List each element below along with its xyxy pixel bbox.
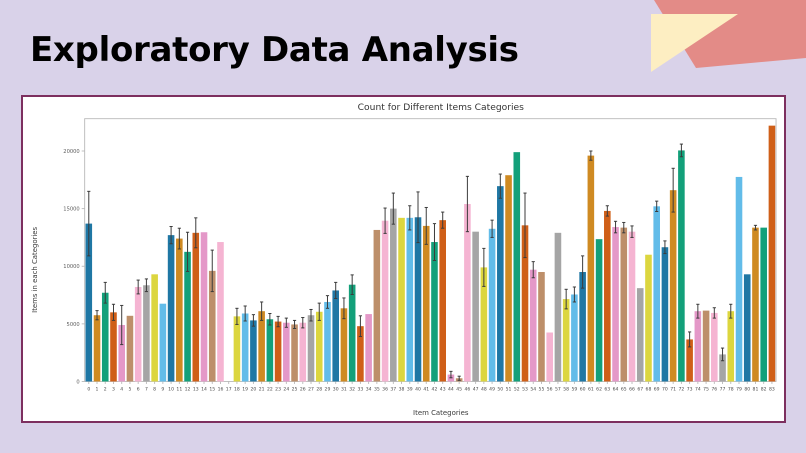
bar	[275, 322, 282, 382]
y-tick-label: 0	[76, 379, 79, 385]
bar	[670, 190, 677, 381]
x-tick-label: 9	[161, 386, 164, 392]
bar	[571, 294, 578, 381]
bar	[299, 323, 306, 382]
bar	[423, 226, 430, 382]
x-tick-label: 8	[153, 386, 156, 392]
x-tick-label: 61	[588, 386, 594, 392]
x-tick-label: 65	[621, 386, 627, 392]
x-tick-label: 71	[670, 386, 676, 392]
x-tick-label: 64	[613, 386, 619, 392]
x-tick-label: 59	[571, 386, 577, 392]
x-tick-label: 28	[316, 386, 322, 392]
bar	[341, 308, 348, 381]
x-tick-label: 54	[530, 386, 536, 392]
x-tick-label: 18	[234, 386, 240, 392]
x-tick-label: 6	[137, 386, 140, 392]
x-tick-label: 83	[769, 386, 775, 392]
bar	[201, 232, 208, 381]
bar	[135, 287, 142, 382]
x-tick-label: 21	[259, 386, 265, 392]
bar	[291, 324, 298, 381]
bar	[234, 316, 241, 381]
bar	[489, 229, 496, 382]
bar	[316, 312, 323, 382]
x-tick-label: 76	[711, 386, 717, 392]
bar	[176, 239, 183, 382]
x-tick-label: 69	[654, 386, 660, 392]
x-tick-label: 12	[185, 386, 191, 392]
x-tick-label: 60	[580, 386, 586, 392]
bar-chart: Count for Different Items Categories Ite…	[23, 97, 784, 421]
x-tick-label: 74	[695, 386, 701, 392]
x-axis-title: Item Categories	[413, 409, 469, 417]
bar	[374, 230, 381, 382]
bar	[555, 233, 562, 382]
x-tick-label: 66	[629, 386, 635, 392]
bar	[192, 233, 199, 382]
bar	[513, 152, 520, 381]
x-tick-label: 47	[473, 386, 479, 392]
bar	[168, 235, 175, 381]
bar	[258, 311, 265, 381]
x-tick-label: 26	[300, 386, 306, 392]
x-tick-label: 23	[275, 386, 281, 392]
bar	[727, 311, 734, 381]
bar	[703, 311, 710, 382]
x-tick-label: 11	[176, 386, 182, 392]
x-tick-label: 39	[407, 386, 413, 392]
bar	[612, 227, 619, 381]
x-tick-label: 5	[128, 386, 131, 392]
bar	[151, 274, 158, 381]
x-tick-label: 0	[87, 386, 90, 392]
bar	[382, 221, 389, 382]
bar	[110, 312, 117, 381]
y-tick-label: 15000	[63, 207, 79, 213]
x-tick-label: 51	[506, 386, 512, 392]
bar	[127, 316, 134, 382]
x-tick-label: 38	[399, 386, 405, 392]
x-tick-label: 42	[432, 386, 438, 392]
x-tick-label: 15	[209, 386, 215, 392]
bar	[497, 186, 504, 381]
bar	[242, 313, 249, 381]
x-tick-label: 2	[104, 386, 107, 392]
bar	[102, 293, 109, 382]
bar	[94, 315, 101, 381]
x-tick-label: 53	[522, 386, 528, 392]
bar	[324, 302, 331, 382]
bar	[390, 209, 397, 382]
x-axis: 0123456789101112131415161718192021222324…	[87, 381, 775, 392]
y-axis-title: Items in each Categories	[31, 226, 39, 312]
x-tick-label: 16	[218, 386, 224, 392]
bar	[406, 218, 413, 382]
bar	[439, 220, 446, 381]
x-tick-label: 13	[193, 386, 199, 392]
bar	[637, 288, 644, 381]
x-tick-label: 80	[744, 386, 750, 392]
x-tick-label: 55	[539, 386, 545, 392]
y-tick-label: 5000	[67, 322, 80, 328]
bar-series	[85, 126, 775, 382]
x-tick-label: 52	[514, 386, 520, 392]
x-tick-label: 56	[547, 386, 553, 392]
x-tick-label: 63	[604, 386, 610, 392]
x-tick-label: 72	[678, 386, 684, 392]
x-tick-label: 24	[283, 386, 289, 392]
bar	[250, 320, 257, 381]
x-tick-label: 48	[481, 386, 487, 392]
x-tick-label: 35	[374, 386, 380, 392]
bar	[563, 299, 570, 381]
bar	[308, 315, 315, 381]
x-tick-label: 33	[357, 386, 363, 392]
bar	[267, 319, 274, 381]
chart-title: Count for Different Items Categories	[358, 103, 524, 113]
chart-container: Count for Different Items Categories Ite…	[21, 95, 786, 423]
x-tick-label: 44	[448, 386, 454, 392]
bar	[596, 239, 603, 381]
x-tick-label: 57	[555, 386, 561, 392]
bar	[530, 270, 537, 382]
bar	[538, 272, 545, 381]
bar	[143, 285, 150, 381]
y-tick-label: 10000	[63, 264, 79, 270]
bar	[546, 333, 553, 382]
bar	[695, 311, 702, 381]
x-tick-label: 4	[120, 386, 123, 392]
bar	[752, 228, 759, 382]
bar	[662, 247, 669, 381]
x-tick-label: 50	[497, 386, 503, 392]
x-tick-label: 79	[736, 386, 742, 392]
bar	[505, 175, 512, 381]
bar	[620, 228, 627, 382]
x-tick-label: 41	[423, 386, 429, 392]
bar	[160, 304, 167, 382]
x-tick-label: 31	[341, 386, 347, 392]
decorative-corner-graphic	[620, 0, 806, 92]
x-tick-label: 17	[226, 386, 232, 392]
bar	[629, 232, 636, 382]
x-tick-label: 67	[637, 386, 643, 392]
x-tick-label: 10	[168, 386, 174, 392]
x-tick-label: 27	[308, 386, 314, 392]
x-tick-label: 46	[464, 386, 470, 392]
x-tick-label: 70	[662, 386, 668, 392]
x-tick-label: 40	[415, 386, 421, 392]
x-tick-label: 32	[349, 386, 355, 392]
bar	[588, 156, 595, 382]
bar	[217, 242, 224, 381]
cream-triangle-shape	[651, 14, 738, 72]
x-tick-label: 20	[250, 386, 256, 392]
x-tick-label: 29	[325, 386, 331, 392]
bar	[365, 314, 372, 381]
bar	[678, 150, 685, 381]
y-tick-label: 20000	[63, 149, 79, 155]
x-tick-label: 34	[366, 386, 372, 392]
bar	[349, 285, 356, 382]
x-tick-label: 62	[596, 386, 602, 392]
salmon-triangle-shape	[654, 0, 806, 68]
x-tick-label: 58	[563, 386, 569, 392]
bar	[711, 313, 718, 382]
x-tick-label: 75	[703, 386, 709, 392]
x-tick-label: 19	[242, 386, 248, 392]
x-tick-label: 30	[333, 386, 339, 392]
bar	[332, 290, 339, 381]
x-tick-label: 36	[382, 386, 388, 392]
x-tick-label: 45	[456, 386, 462, 392]
x-tick-label: 73	[687, 386, 693, 392]
page-title: Exploratory Data Analysis	[30, 30, 519, 70]
x-tick-label: 77	[720, 386, 726, 392]
x-tick-label: 14	[201, 386, 207, 392]
x-tick-label: 68	[646, 386, 652, 392]
x-tick-label: 78	[728, 386, 734, 392]
bar	[283, 323, 290, 382]
x-tick-label: 82	[761, 386, 767, 392]
bar	[744, 274, 751, 381]
x-tick-label: 81	[753, 386, 759, 392]
x-tick-label: 49	[489, 386, 495, 392]
bar	[736, 177, 743, 382]
bar	[472, 232, 479, 382]
bar	[431, 242, 438, 381]
bar	[398, 218, 405, 382]
bar	[760, 228, 767, 382]
bar	[645, 255, 652, 382]
bar	[769, 126, 776, 382]
x-tick-label: 43	[440, 386, 446, 392]
x-tick-label: 1	[96, 386, 99, 392]
bar	[604, 211, 611, 382]
bar	[653, 206, 660, 381]
x-tick-label: 3	[112, 386, 115, 392]
x-tick-label: 37	[390, 386, 396, 392]
x-tick-label: 25	[292, 386, 298, 392]
x-tick-label: 22	[267, 386, 273, 392]
x-tick-label: 7	[145, 386, 148, 392]
